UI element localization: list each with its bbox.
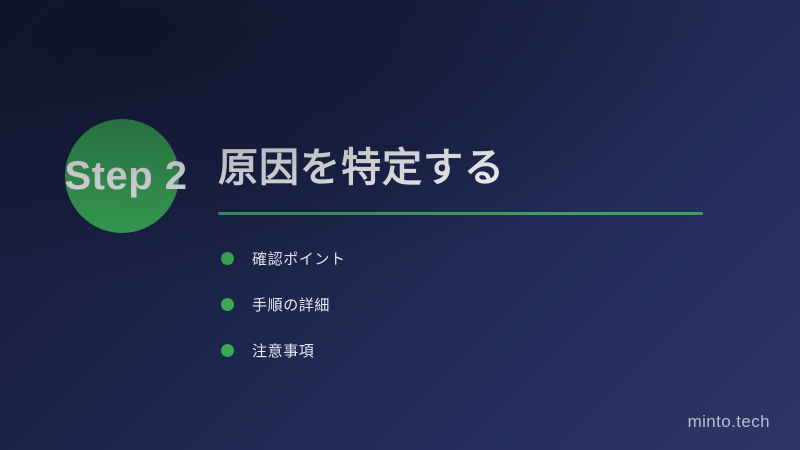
bullet-list: 確認ポイント 手順の詳細 注意事項	[221, 235, 691, 373]
bullet-label: 手順の詳細	[252, 294, 330, 315]
slide-title: 原因を特定する	[218, 145, 505, 191]
presentation-slide: Step 2 原因を特定する 確認ポイント 手順の詳細 注意事項 minto.t…	[0, 0, 800, 450]
watermark: minto.tech	[688, 412, 770, 432]
step-badge-label: Step 2	[46, 150, 206, 202]
bullet-dot-icon	[221, 298, 234, 311]
bullet-label: 確認ポイント	[252, 248, 346, 269]
list-item: 注意事項	[221, 327, 691, 373]
title-divider	[218, 212, 703, 215]
bullet-dot-icon	[221, 252, 234, 265]
bullet-label: 注意事項	[252, 340, 314, 361]
list-item: 確認ポイント	[221, 235, 691, 281]
list-item: 手順の詳細	[221, 281, 691, 327]
bullet-dot-icon	[221, 344, 234, 357]
